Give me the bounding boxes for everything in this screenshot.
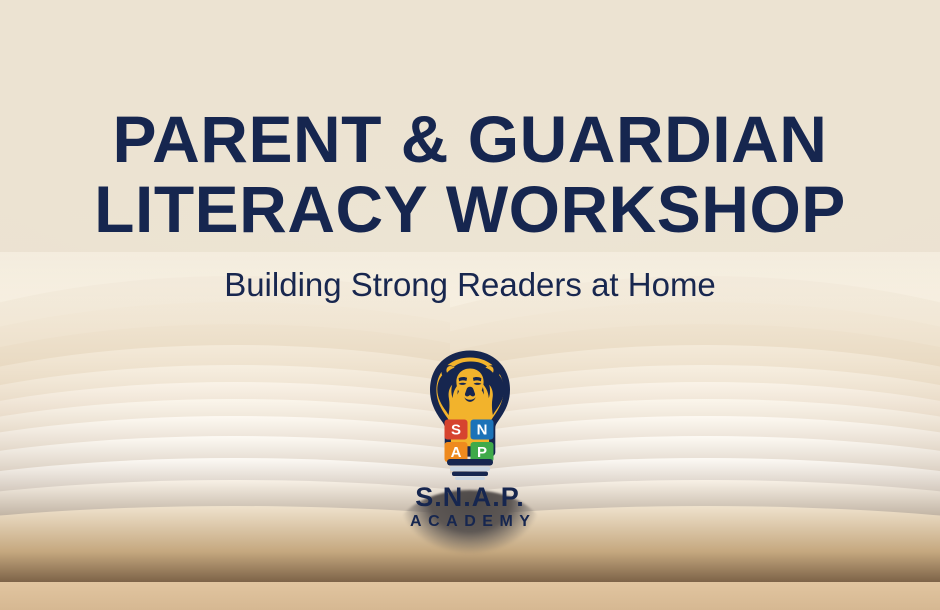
bulb-base-band-2 <box>450 467 490 472</box>
page-title-line-1: PARENT & GUARDIAN <box>0 104 940 174</box>
bulb-base-tip <box>455 477 485 481</box>
lightbulb-lion-icon: S N A P <box>424 348 516 480</box>
heading-block: PARENT & GUARDIAN LITERACY WORKSHOP Buil… <box>0 104 940 304</box>
bulb-base-band-1 <box>447 459 493 466</box>
tile-letter-a: A <box>451 444 462 461</box>
tile-letter-n: N <box>477 422 488 439</box>
snap-academy-logo: S N A P S.N.A.P. ACADEMY <box>370 348 570 530</box>
page-subtitle: Building Strong Readers at Home <box>0 266 940 304</box>
logo-wordmark: S.N.A.P. <box>370 484 570 511</box>
bulb-base-band-3 <box>452 472 488 477</box>
tile-letter-p: P <box>477 444 487 461</box>
bulb-screw-base <box>447 459 493 480</box>
poster-canvas: PARENT & GUARDIAN LITERACY WORKSHOP Buil… <box>0 0 940 610</box>
page-title-line-2: LITERACY WORKSHOP <box>0 174 940 244</box>
tile-letter-s: S <box>451 422 461 439</box>
logo-sub-wordmark: ACADEMY <box>370 514 570 530</box>
